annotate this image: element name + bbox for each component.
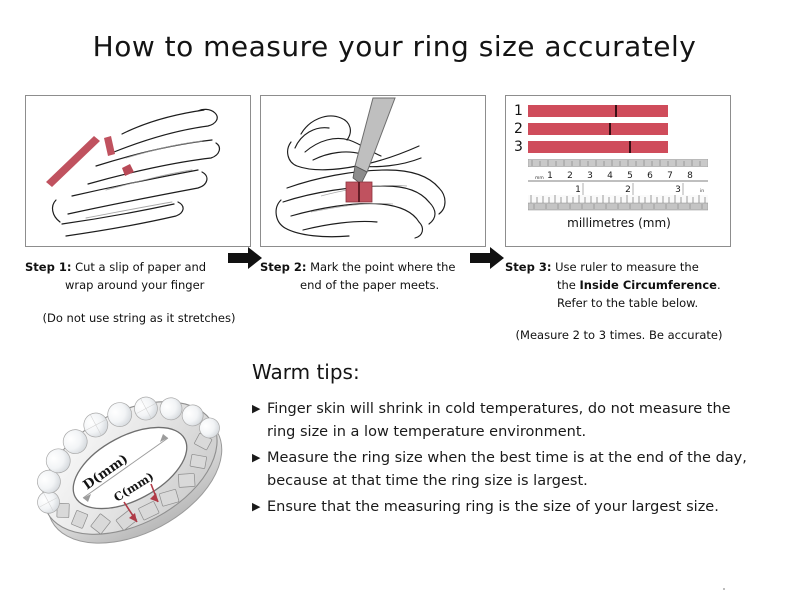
ring-photo-icon: D(mm) C(mm) (25, 350, 240, 585)
ruler-icon: 12 34 56 78 mm 123 (528, 159, 708, 211)
step-2-illustration-panel (260, 95, 486, 247)
svg-text:2: 2 (625, 185, 631, 195)
bullet-triangle-icon-3: ▶ (252, 498, 267, 516)
step-column-3: 1 2 3 (505, 95, 733, 342)
measured-strips-group: 1 2 3 (514, 104, 668, 158)
step-2-line2: end of the paper meets. (260, 277, 488, 295)
steps-section: Step 1: Cut a slip of paper and wrap aro… (0, 95, 789, 340)
step-3-caption: Step 3: Use ruler to measure the the Ins… (505, 259, 733, 312)
svg-text:mm: mm (535, 176, 544, 181)
ruler-unit-label: millimetres (mm) (506, 216, 731, 230)
step-3-emphasis: Inside Circumference (580, 278, 717, 292)
svg-text:7: 7 (667, 171, 673, 181)
paper-strip-loose (46, 136, 100, 187)
svg-text:5: 5 (627, 171, 633, 181)
step-3-line2: the Inside Circumference. (505, 277, 733, 295)
lower-section: D(mm) C(mm) Warm tips: ▶ Finger skin wil… (0, 350, 789, 600)
strip-bar-1 (528, 105, 668, 117)
strip-row-2: 2 (514, 122, 668, 136)
strip-bar-3 (528, 141, 668, 153)
strip-row-1: 1 (514, 104, 668, 118)
step-3-illustration-panel: 1 2 3 (505, 95, 731, 247)
step-1-note: (Do not use string as it stretches) (25, 311, 253, 325)
svg-text:8: 8 (687, 171, 693, 181)
step-3-line1: Use ruler to measure the (555, 260, 699, 274)
svg-text:6: 6 (647, 171, 653, 181)
ruler-graphic: 12 34 56 78 mm 123 (528, 159, 708, 211)
step-1-line2: wrap around your finger (25, 277, 253, 295)
svg-text:2: 2 (567, 171, 573, 181)
strip-number-3: 3 (514, 140, 528, 154)
warm-tips-heading: Warm tips: (252, 360, 762, 384)
image-artifact-speck (723, 588, 725, 590)
strip-mark-1 (615, 105, 617, 117)
strip-number-1: 1 (514, 104, 528, 118)
step-3-line3: Refer to the table below. (505, 295, 733, 313)
step-2-line1: Mark the point where the (310, 260, 455, 274)
strip-mark-3 (629, 141, 631, 153)
pen-icon (353, 98, 395, 184)
step-1-caption: Step 1: Cut a slip of paper and wrap aro… (25, 259, 253, 295)
ring-size-guide-page: How to measure your ring size accurately (0, 0, 789, 606)
svg-text:in: in (700, 188, 704, 194)
strip-mark-2 (609, 123, 611, 135)
svg-text:3: 3 (587, 171, 593, 181)
step-1-label: Step 1: (25, 260, 71, 274)
strip-number-2: 2 (514, 122, 528, 136)
svg-text:1: 1 (547, 171, 553, 181)
page-title: How to measure your ring size accurately (0, 30, 789, 63)
strip-bar-2 (528, 123, 668, 135)
step-column-2: Step 2: Mark the point where the end of … (260, 95, 488, 295)
warm-tip-text-2: Measure the ring size when the best time… (267, 447, 762, 494)
bullet-triangle-icon-2: ▶ (252, 449, 267, 467)
svg-text:1: 1 (575, 185, 581, 195)
bullet-triangle-icon-1: ▶ (252, 400, 267, 418)
svg-text:3: 3 (675, 185, 681, 195)
warm-tip-text-1: Finger skin will shrink in cold temperat… (267, 398, 762, 445)
arrow-step1-to-step2-icon (228, 245, 264, 271)
step-3-note: (Measure 2 to 3 times. Be accurate) (505, 328, 733, 342)
arrow-step2-to-step3-icon (470, 245, 506, 271)
warm-tip-item-3: ▶ Ensure that the measuring ring is the … (252, 496, 762, 519)
paper-strip-marked (346, 182, 372, 202)
step-column-1: Step 1: Cut a slip of paper and wrap aro… (25, 95, 253, 325)
step-3-line2-suffix: . (717, 278, 721, 292)
warm-tip-item-1: ▶ Finger skin will shrink in cold temper… (252, 398, 762, 445)
warm-tip-text-3: Ensure that the measuring ring is the si… (267, 496, 762, 519)
step-1-illustration-panel (25, 95, 251, 247)
hand-marking-paper-with-pen-icon (261, 96, 486, 247)
ring-diagram: D(mm) C(mm) (25, 350, 240, 585)
step-3-label: Step 3: (505, 260, 551, 274)
warm-tip-item-2: ▶ Measure the ring size when the best ti… (252, 447, 762, 494)
hand-with-paper-strip-icon (26, 96, 251, 247)
step-1-line1: Cut a slip of paper and (75, 260, 206, 274)
warm-tips-block: Warm tips: ▶ Finger skin will shrink in … (252, 360, 762, 521)
step-2-caption: Step 2: Mark the point where the end of … (260, 259, 488, 295)
svg-text:4: 4 (607, 171, 613, 181)
step-3-line2-prefix: the (557, 278, 580, 292)
step-2-label: Step 2: (260, 260, 306, 274)
strip-row-3: 3 (514, 140, 668, 154)
